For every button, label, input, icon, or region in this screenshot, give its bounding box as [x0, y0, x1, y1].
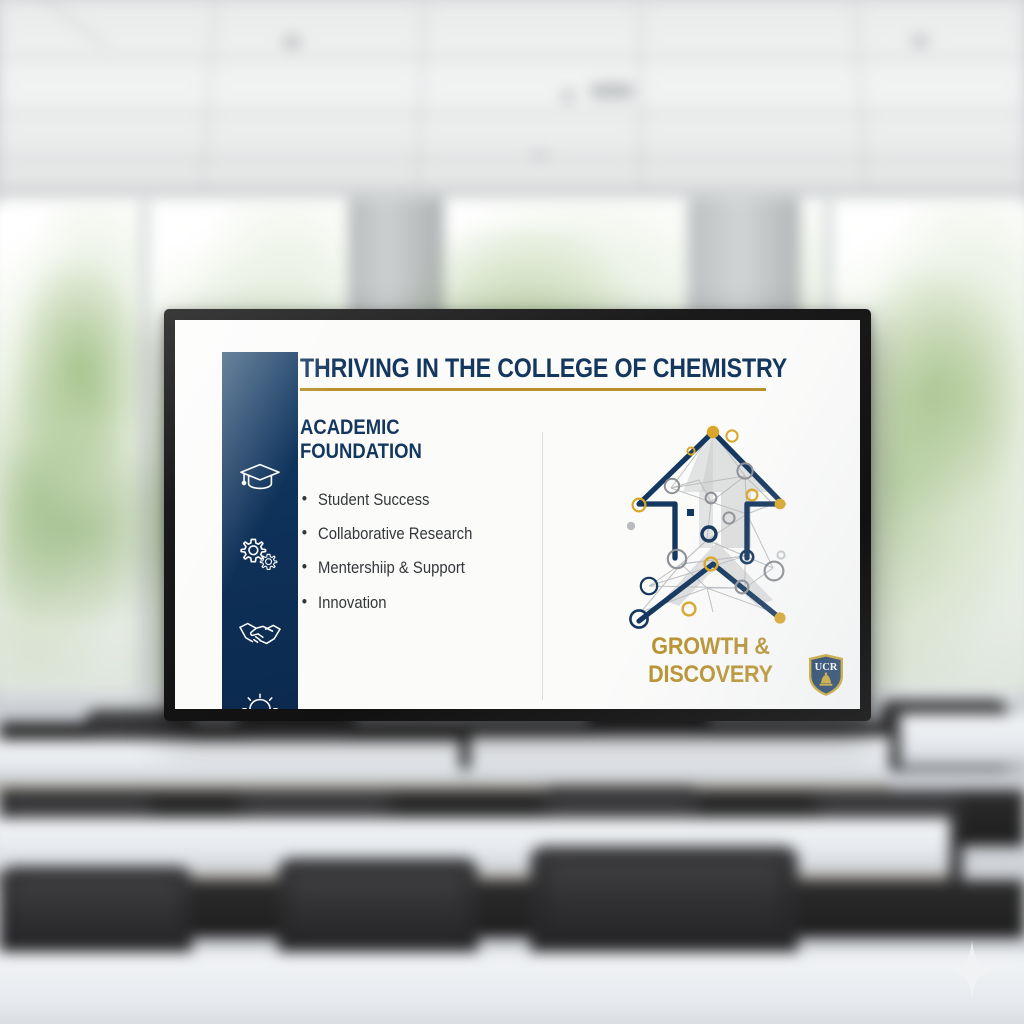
list-item: Collaborative Research	[300, 526, 525, 543]
slide-header: THRIVING IN THE COLLEGE OF CHEMISTRY	[300, 354, 832, 391]
desk	[470, 736, 890, 782]
slide-left-content: ACADEMIC FOUNDATION Student Success Coll…	[300, 416, 550, 629]
section-heading: ACADEMIC FOUNDATION	[300, 416, 520, 465]
wall-mounted-display[interactable]: THRIVING IN THE COLLEGE OF CHEMISTRY ACA…	[164, 309, 871, 721]
graphic-caption: GROWTH & DISCOVERY	[589, 633, 833, 689]
slide-sidebar	[222, 352, 298, 709]
section-heading-line1: ACADEMIC	[300, 416, 520, 440]
vertical-divider	[542, 432, 543, 700]
graduation-cap-icon	[237, 458, 283, 496]
ucr-shield-logo: UCR	[806, 653, 846, 697]
gears-icon	[237, 536, 283, 574]
slide-right-content: GROWTH & DISCOVERY	[575, 416, 846, 689]
list-item: Innovation	[300, 595, 525, 612]
title-underline	[300, 388, 766, 391]
svg-text:UCR: UCR	[815, 662, 838, 673]
list-item: Mentershiip & Support	[300, 560, 525, 577]
section-heading-line2: FOUNDATION	[300, 440, 520, 464]
desk	[900, 714, 1024, 766]
upward-arrow-network-illustration	[595, 416, 827, 631]
list-item: Student Success	[300, 492, 525, 509]
bullet-list: Student Success Collaborative Research M…	[300, 492, 550, 612]
display-screen[interactable]: THRIVING IN THE COLLEGE OF CHEMISTRY ACA…	[175, 320, 860, 709]
ceiling	[0, 0, 1024, 196]
desk	[0, 952, 1024, 1024]
handshake-icon	[237, 614, 283, 652]
presentation-slide: THRIVING IN THE COLLEGE OF CHEMISTRY ACA…	[175, 320, 860, 709]
page-title: THRIVING IN THE COLLEGE OF CHEMISTRY	[300, 354, 758, 382]
sparkle-icon	[944, 938, 1000, 1002]
desk	[0, 740, 460, 784]
lightbulb-icon	[237, 692, 283, 709]
